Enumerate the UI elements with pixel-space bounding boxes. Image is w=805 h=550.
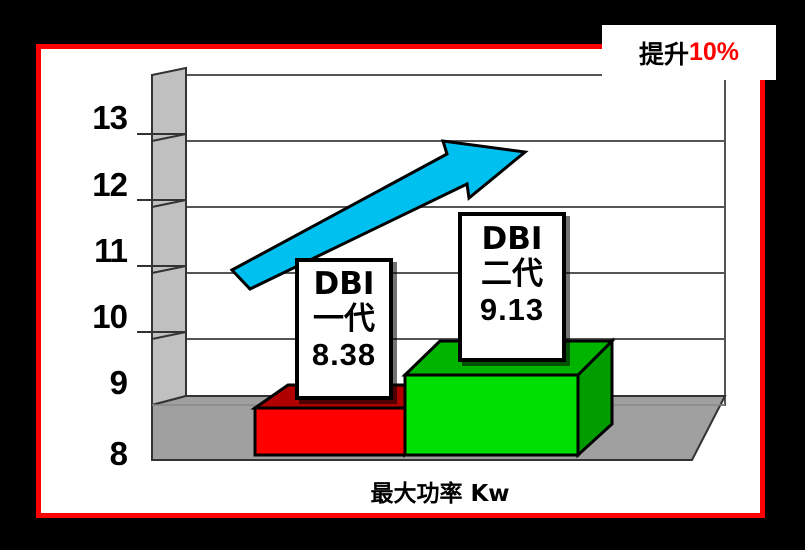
badge-label-percent: 10%: [689, 38, 739, 67]
y-tick-11: 11: [55, 234, 127, 267]
y-tick-9: 9: [55, 366, 127, 399]
y-tick-12: 12: [55, 168, 127, 201]
improvement-badge: 提升10%: [602, 25, 776, 80]
callout-1-value: 8.38: [299, 337, 389, 372]
callout-2-line1: DBI: [462, 222, 562, 257]
callout-1-line2: 一代: [299, 302, 389, 337]
callout-dbi-gen2: DBI 二代 9.13: [458, 212, 566, 362]
x-axis-label: 最大功率 Kw: [150, 474, 730, 508]
callout-2-value: 9.13: [462, 292, 562, 327]
y-tick-13: 13: [55, 101, 127, 134]
chart-panel: [36, 44, 765, 518]
screenshot-root: 13 12 11 10 9 8 最大功率 Kw DBI 一代 8.38 DBI …: [0, 0, 805, 550]
y-tick-10: 10: [55, 300, 127, 333]
callout-dbi-gen1: DBI 一代 8.38: [295, 258, 393, 400]
y-tick-8: 8: [55, 437, 127, 470]
callout-1-line1: DBI: [299, 267, 389, 302]
badge-label-cn: 提升: [639, 35, 689, 71]
callout-2-line2: 二代: [462, 257, 562, 292]
